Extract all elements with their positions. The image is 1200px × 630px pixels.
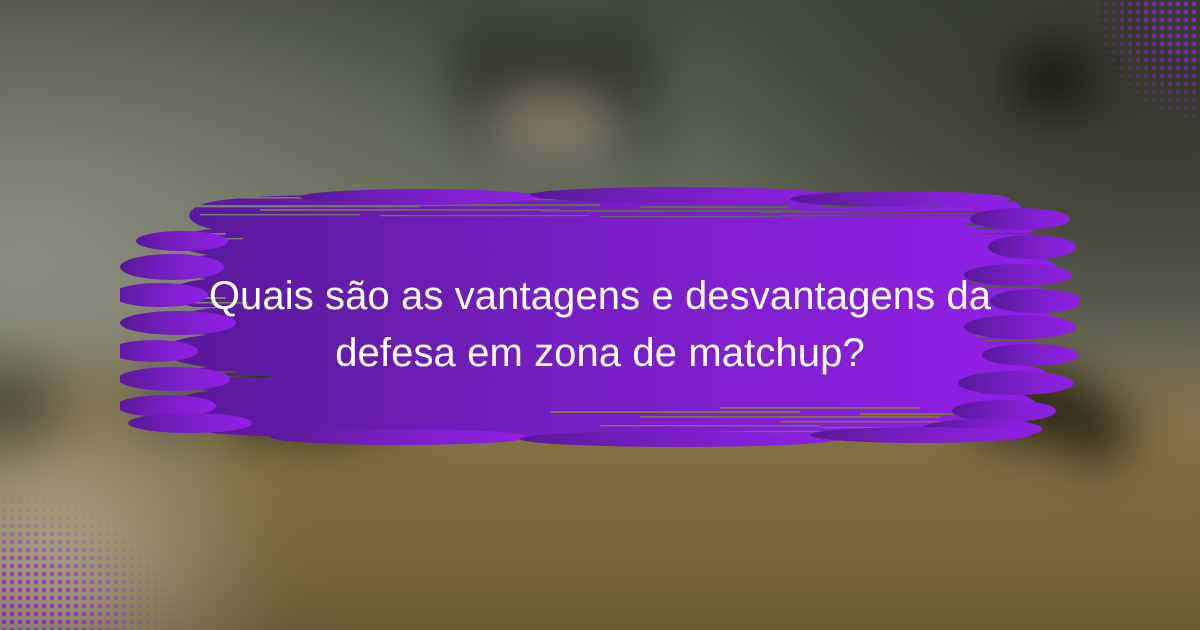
gym-floor-highlight [0,435,270,630]
social-share-card: Quais são as vantagens e desvantagens da… [0,0,1200,630]
basketball-hoop [522,100,580,137]
backboard-target-square [1016,56,1088,104]
card-headline: Quais são as vantagens e desvantagens da… [170,268,1030,382]
